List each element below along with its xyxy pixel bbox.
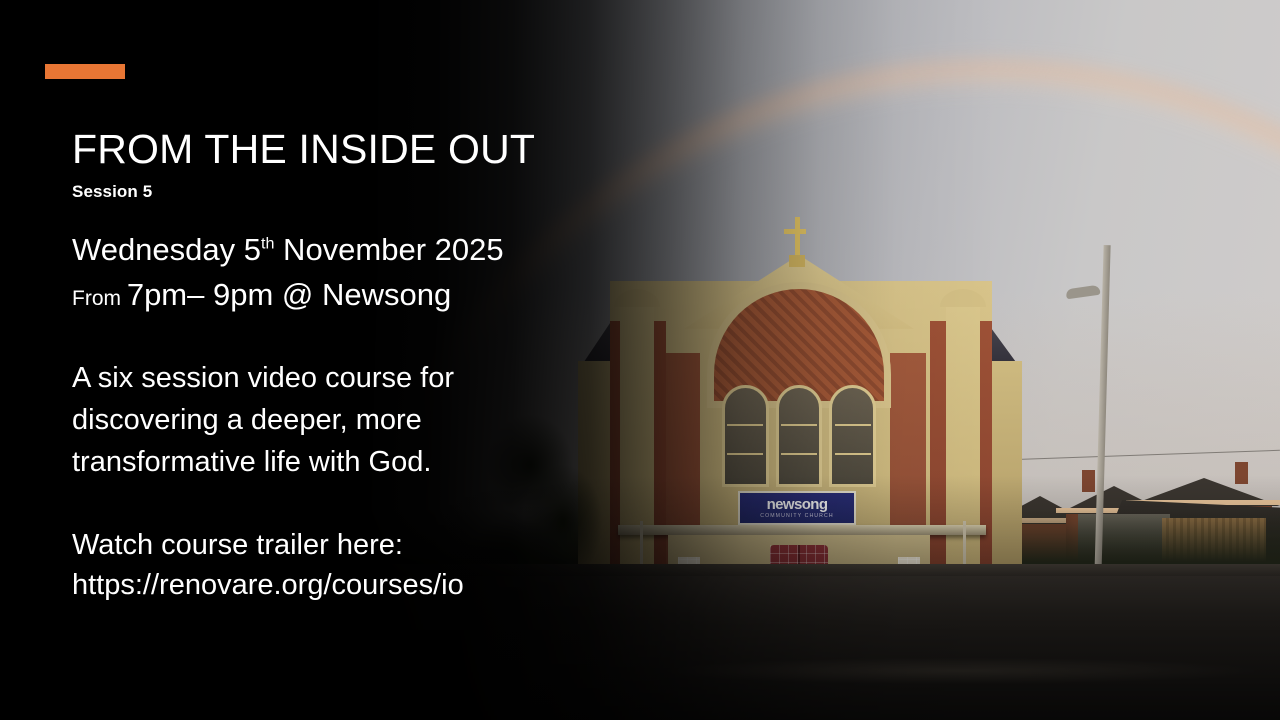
promo-slide: newsong COMMUNITY CHURCH FROM T — [0, 0, 1280, 720]
from-label: From — [72, 287, 127, 310]
time-and-venue: 7pm– 9pm @ Newsong — [127, 277, 451, 312]
cta-label: Watch course trailer here: — [72, 529, 403, 561]
course-description: A six session video course for discoveri… — [72, 358, 592, 483]
session-label: Session 5 — [72, 182, 152, 202]
accent-bar — [45, 64, 125, 79]
call-to-action: Watch course trailer here: https://renov… — [72, 525, 632, 605]
text-content: FROM THE INSIDE OUT Session 5 Wednesday … — [0, 0, 1280, 720]
cta-url[interactable]: https://renovare.org/courses/io — [72, 565, 632, 605]
date-ordinal: th — [261, 235, 274, 253]
event-time: From 7pm– 9pm @ Newsong — [72, 277, 451, 313]
page-title: FROM THE INSIDE OUT — [72, 128, 535, 171]
event-date: Wednesday 5th November 2025 — [72, 232, 504, 268]
date-prefix: Wednesday 5 — [72, 232, 261, 267]
date-suffix: November 2025 — [274, 232, 503, 267]
